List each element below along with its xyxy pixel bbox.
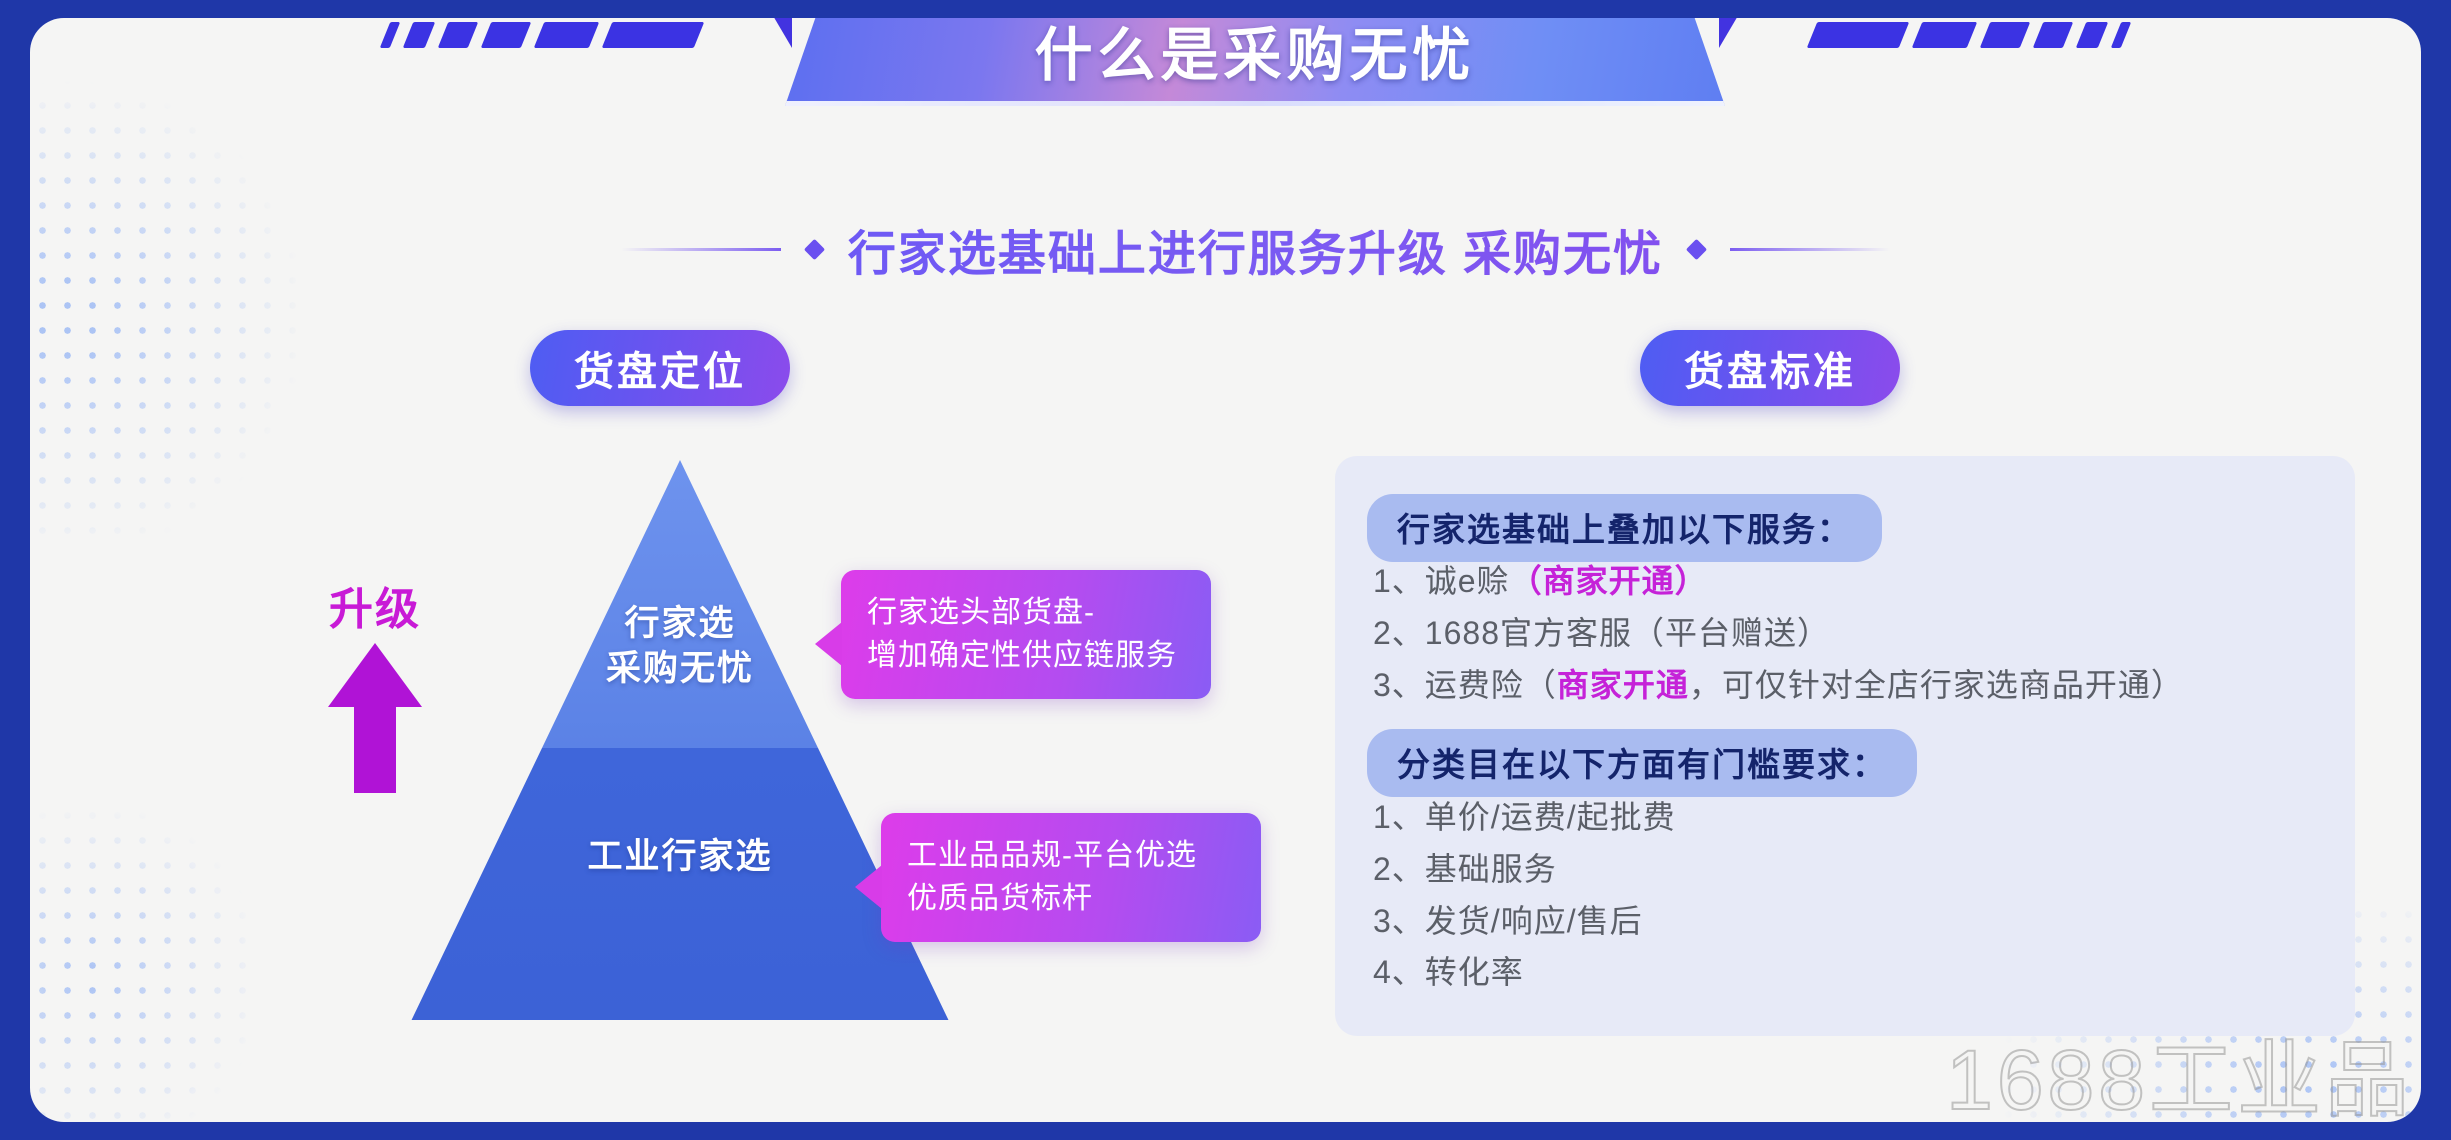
list-item-text: 3、发货/响应/售后 xyxy=(1373,903,1643,939)
diamond-icon xyxy=(1686,238,1707,259)
list-item: 4、转化率 xyxy=(1373,947,1676,999)
subtitle-text: 行家选基础上进行服务升级 采购无忧 xyxy=(848,214,1663,284)
slash-bar-icon xyxy=(403,22,436,48)
section-heading-added-services: 行家选基础上叠加以下服务： xyxy=(1367,494,1882,562)
pill-huopan-dingwei[interactable]: 货盘定位 xyxy=(530,330,790,406)
list-category-thresholds: 1、单价/运费/起批费2、基础服务3、发货/响应/售后4、转化率 xyxy=(1373,792,1676,999)
slash-bar-icon xyxy=(2076,22,2109,48)
slash-bar-icon xyxy=(380,22,401,48)
list-item: 2、1688官方客服（平台赠送） xyxy=(1373,608,2184,660)
diamond-icon xyxy=(804,238,825,259)
list-item-highlight: （商家开通） xyxy=(1510,563,1708,599)
list-item: 1、诚e赊（商家开通） xyxy=(1373,556,2184,608)
list-item: 3、运费险（商家开通，可仅针对全店行家选商品开通） xyxy=(1373,660,2184,712)
banner-slashes-right-icon xyxy=(1812,22,2126,48)
list-item-text: 4、转化率 xyxy=(1373,954,1524,990)
callout-bottom: 工业品品规-平台优选 优质品货标杆 xyxy=(881,813,1261,942)
page-root: 什么是采购无忧 行家选基础上进行服务升级 采购无忧 货盘定位 货盘标准 升级 xyxy=(0,0,2451,1140)
standards-panel: 行家选基础上叠加以下服务： 1、诚e赊（商家开通）2、1688官方客服（平台赠送… xyxy=(1335,456,2355,1036)
slash-bar-icon xyxy=(602,22,705,48)
slash-bar-icon xyxy=(1807,22,1910,48)
list-item-text: 2、1688官方客服（平台赠送） xyxy=(1373,615,1830,651)
list-item-text: 2、基础服务 xyxy=(1373,851,1557,887)
callout-top: 行家选头部货盘- 增加确定性供应链服务 xyxy=(841,570,1211,699)
banner-slashes-left-icon xyxy=(385,22,699,48)
subtitle-row: 行家选基础上进行服务升级 采购无忧 xyxy=(30,214,2421,284)
list-item-text: 1、单价/运费/起批费 xyxy=(1373,799,1676,835)
pill-huopan-biaozhun[interactable]: 货盘标准 xyxy=(1640,330,1900,406)
list-item-text: 3、运费险（ xyxy=(1373,667,1557,703)
banner: 什么是采购无忧 xyxy=(30,18,2421,106)
list-added-services: 1、诚e赊（商家开通）2、1688官方客服（平台赠送）3、运费险（商家开通，可仅… xyxy=(1373,556,2184,711)
slash-bar-icon xyxy=(481,22,532,48)
subtitle-rule-right xyxy=(1730,248,1890,251)
list-item: 1、单价/运费/起批费 xyxy=(1373,792,1676,844)
slash-bar-icon xyxy=(2111,22,2132,48)
list-item: 2、基础服务 xyxy=(1373,844,1676,896)
list-item-text: 1、诚e赊 xyxy=(1373,563,1510,599)
slash-bar-icon xyxy=(1980,22,2031,48)
list-item-suffix: ，可仅针对全店行家选商品开通） xyxy=(1689,667,2184,703)
banner-title: 什么是采购无忧 xyxy=(785,18,1725,106)
slash-bar-icon xyxy=(438,22,479,48)
list-item-highlight: 商家开通 xyxy=(1557,667,1689,703)
slash-bar-icon xyxy=(534,22,600,48)
slash-bar-icon xyxy=(1912,22,1978,48)
slash-bar-icon xyxy=(2033,22,2074,48)
content-card: 什么是采购无忧 行家选基础上进行服务升级 采购无忧 货盘定位 货盘标准 升级 xyxy=(30,18,2421,1122)
list-item: 3、发货/响应/售后 xyxy=(1373,896,1676,948)
subtitle-rule-left xyxy=(621,248,781,251)
section-heading-category-thresholds: 分类目在以下方面有门槛要求： xyxy=(1367,729,1917,797)
